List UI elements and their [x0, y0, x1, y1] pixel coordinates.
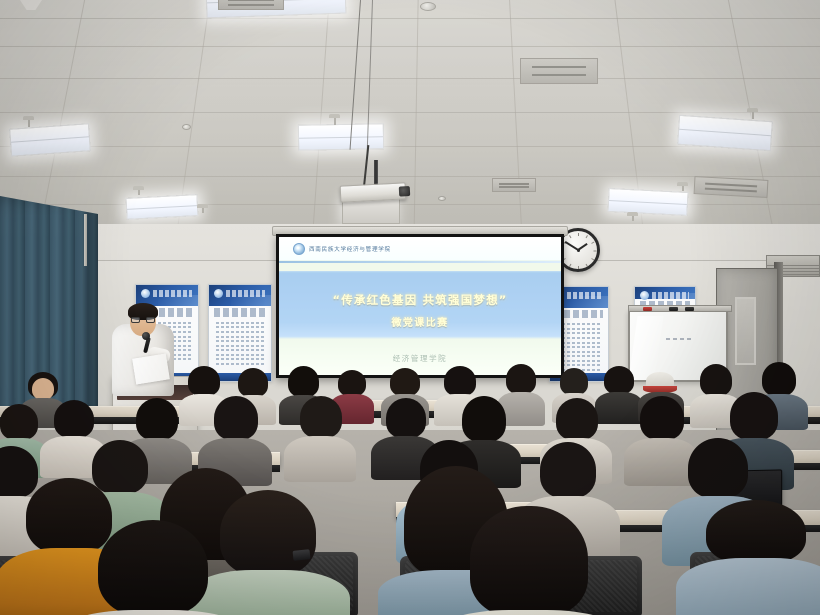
- smoke-detector-icon: [438, 196, 446, 201]
- classroom-photo: 西南民族大学经济与管理学院 “传承红色基因 共筑强国梦想” 微党课比赛 经济管理…: [0, 0, 820, 615]
- marker-red-icon: [643, 307, 652, 311]
- marker-tray: [628, 305, 732, 312]
- smoke-detector-icon: [182, 124, 191, 130]
- marker-black-icon: [685, 307, 694, 311]
- ceiling-light: [125, 194, 198, 220]
- marker-black-icon: [669, 307, 678, 311]
- slide-org-name: 西南民族大学经济与管理学院: [309, 245, 391, 253]
- wall-poster: [208, 284, 272, 382]
- glasses-icon: [131, 317, 155, 323]
- smoke-detector-icon: [420, 2, 436, 11]
- projector-mount-pole: [374, 160, 378, 186]
- ceiling-projector: [340, 182, 407, 202]
- light-hanger: [682, 182, 684, 191]
- ceiling: [0, 0, 820, 232]
- presentation-slide: 西南民族大学经济与管理学院 “传承红色基因 共筑强国梦想” 微党课比赛 经济管理…: [279, 237, 561, 375]
- smartphone[interactable]: [293, 549, 311, 561]
- ceiling-light: [298, 123, 384, 150]
- light-hanger: [138, 186, 140, 195]
- projection-screen: 西南民族大学经济与管理学院 “传承红色基因 共筑强国梦想” 微党课比赛 经济管理…: [276, 234, 564, 378]
- ceiling-light: [9, 123, 91, 157]
- light-hanger: [202, 204, 204, 213]
- light-hanger: [752, 108, 754, 119]
- slide-title: “传承红色基因 共筑强国梦想”: [279, 292, 561, 308]
- hvac-vent: [218, 0, 284, 10]
- hvac-vent: [694, 176, 769, 198]
- projector-lens-icon: [399, 186, 411, 197]
- slide-footer: 经济管理学院: [279, 353, 561, 364]
- paper-script: [132, 354, 170, 385]
- slide-subtitle: 微党课比赛: [279, 314, 561, 329]
- whiteboard-glare: [629, 316, 664, 380]
- curtain-rod: [84, 214, 87, 266]
- light-hanger: [28, 116, 30, 127]
- slide-header: 西南民族大学经济与管理学院: [279, 237, 561, 260]
- hvac-vent: [520, 58, 598, 84]
- university-emblem-icon: [293, 243, 305, 255]
- door-window-panel: [735, 297, 756, 365]
- slide-accent-band: [279, 263, 561, 271]
- light-hanger: [334, 114, 336, 125]
- hvac-vent: [492, 178, 536, 192]
- baseball-cap: [646, 372, 674, 390]
- whiteboard-writing: [666, 338, 692, 340]
- ceiling-light: [607, 188, 688, 216]
- light-hanger: [632, 212, 634, 221]
